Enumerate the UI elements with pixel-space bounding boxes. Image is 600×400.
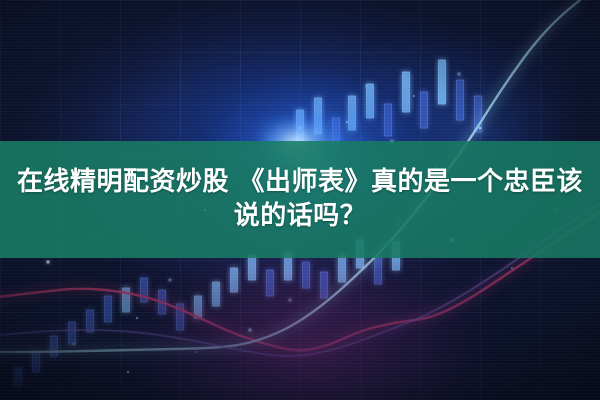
headline-text: 在线精明配资炒股 《出师表》真的是一个忠臣该说的话吗？ bbox=[0, 166, 600, 234]
promo-image-canvas: 在线精明配资炒股 《出师表》真的是一个忠臣该说的话吗？ bbox=[0, 0, 600, 400]
headline-banner: 在线精明配资炒股 《出师表》真的是一个忠臣该说的话吗？ bbox=[0, 141, 600, 258]
